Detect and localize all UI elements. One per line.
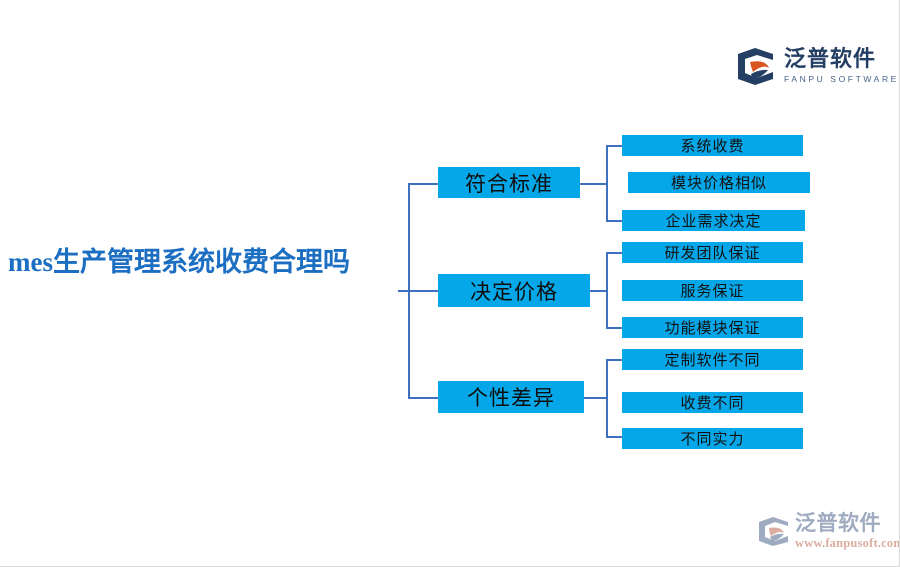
connector-g3-spine xyxy=(606,359,608,437)
leaf-node-g3-2[interactable]: 收费不同 xyxy=(622,392,803,413)
leaf-node-g2-3[interactable]: 功能模块保证 xyxy=(622,317,803,338)
fanpu-logo-icon xyxy=(735,46,777,86)
diagram-page: 泛普软件 FANPU SOFTWARE mes生产管理系统收费合理吗 符合标准 … xyxy=(0,0,900,567)
leaf-node-g1-2[interactable]: 模块价格相似 xyxy=(628,172,810,193)
branch-node-3[interactable]: 个性差异 xyxy=(438,381,584,413)
connector-g2-child-1 xyxy=(606,252,623,254)
leaf-node-g3-3[interactable]: 不同实力 xyxy=(622,428,803,449)
branch-node-1-label: 符合标准 xyxy=(465,168,553,198)
connector-branch-1 xyxy=(408,183,439,185)
leaf-node-g2-1-label: 研发团队保证 xyxy=(664,242,760,263)
connector-g3-child-1 xyxy=(606,359,623,361)
watermark-url: www.fanpusoft.com xyxy=(795,537,900,550)
connector-g1-child-1 xyxy=(606,145,623,147)
leaf-node-g3-2-label: 收费不同 xyxy=(680,392,744,413)
watermark-chinese: 泛普软件 xyxy=(795,513,900,534)
branch-node-2[interactable]: 决定价格 xyxy=(438,274,590,307)
watermark: 泛普软件 www.fanpusoft.com xyxy=(757,505,897,557)
leaf-node-g1-1-label: 系统收费 xyxy=(680,135,744,156)
brand-logo: 泛普软件 FANPU SOFTWARE xyxy=(735,40,875,92)
branch-node-3-label: 个性差异 xyxy=(467,382,555,412)
leaf-node-g2-3-label: 功能模块保证 xyxy=(664,317,760,338)
connector-g2-child-3 xyxy=(606,327,623,329)
connector-g1-spine xyxy=(606,145,608,221)
leaf-node-g1-1[interactable]: 系统收费 xyxy=(622,135,803,156)
connector-g1-child-3 xyxy=(606,220,623,222)
leaf-node-g2-1[interactable]: 研发团队保证 xyxy=(622,242,803,263)
connector-g3-in xyxy=(584,397,607,399)
leaf-node-g3-1-label: 定制软件不同 xyxy=(664,349,760,370)
brand-logo-chinese: 泛普软件 xyxy=(784,48,899,70)
brand-logo-english: FANPU SOFTWARE xyxy=(784,75,899,84)
leaf-node-g1-2-label: 模块价格相似 xyxy=(671,172,767,193)
page-title: mes生产管理系统收费合理吗 xyxy=(8,240,408,279)
leaf-node-g3-3-label: 不同实力 xyxy=(680,428,744,449)
branch-node-2-label: 决定价格 xyxy=(470,276,558,306)
leaf-node-g3-1[interactable]: 定制软件不同 xyxy=(622,349,803,370)
connector-branch-2 xyxy=(408,290,439,292)
connector-branch-3 xyxy=(408,397,439,399)
leaf-node-g2-2-label: 服务保证 xyxy=(680,280,744,301)
connector-g1-in xyxy=(580,183,607,185)
branch-node-1[interactable]: 符合标准 xyxy=(438,167,580,198)
fanpu-watermark-icon xyxy=(757,515,791,547)
connector-g2-in xyxy=(590,290,607,292)
leaf-node-g1-3-label: 企业需求决定 xyxy=(665,210,761,231)
leaf-node-g1-3[interactable]: 企业需求决定 xyxy=(622,210,805,231)
connector-g2-spine xyxy=(606,252,608,328)
connector-g3-child-3 xyxy=(606,436,623,438)
leaf-node-g2-2[interactable]: 服务保证 xyxy=(622,280,803,301)
